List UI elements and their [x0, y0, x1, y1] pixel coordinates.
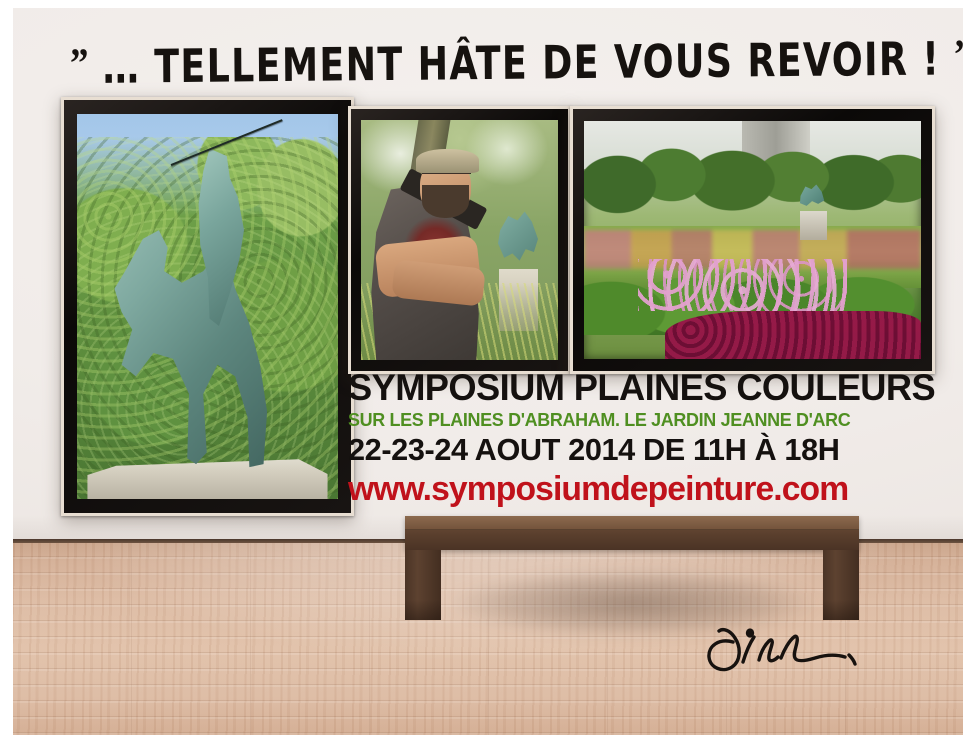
poster-canvas: ” … TELLEMENT HÂTE DE VOUS REVOIR ! ” [0, 0, 977, 747]
statue-plinth [800, 211, 827, 240]
close-quote-mark: ” [954, 32, 963, 78]
gallery-bench [405, 516, 859, 620]
event-website[interactable]: www.symposiumdepeinture.com [348, 469, 962, 509]
headline: ” … TELLEMENT HÂTE DE VOUS REVOIR ! ” [70, 30, 906, 93]
baseball-cap [416, 149, 479, 173]
event-subtitle: SUR LES PLAINES D'ABRAHAM. LE JARDIN JEA… [348, 409, 930, 431]
picture-frame-portrait [348, 106, 571, 374]
photo-artist-portrait [361, 120, 558, 360]
bench-top-face [405, 516, 859, 530]
bench-leg-left [405, 550, 441, 620]
photo-jardin-jeanne-darc [584, 121, 921, 359]
signature-icon [699, 614, 869, 684]
open-quote-mark: ” [70, 41, 89, 87]
photo-equestrian-statue [77, 114, 338, 499]
gallery-room: ” … TELLEMENT HÂTE DE VOUS REVOIR ! ” [13, 8, 963, 735]
tree-line [584, 135, 921, 230]
picture-frame-garden [570, 106, 935, 374]
raised-sword [171, 122, 291, 207]
man-beard [422, 185, 469, 219]
bench-leg-right [823, 550, 859, 620]
bench-seat [405, 516, 859, 550]
pink-flowers [638, 259, 847, 311]
headline-text: … TELLEMENT HÂTE DE VOUS REVOIR ! [102, 32, 940, 94]
event-dates: 22-23-24 AOUT 2014 DE 11H À 18H [348, 432, 942, 468]
picture-frame-statue [61, 97, 354, 516]
eyeglasses [422, 173, 471, 184]
burgundy-coleus-bed [665, 311, 921, 359]
event-title: SYMPOSIUM PLAINES COULEURS [348, 368, 936, 408]
